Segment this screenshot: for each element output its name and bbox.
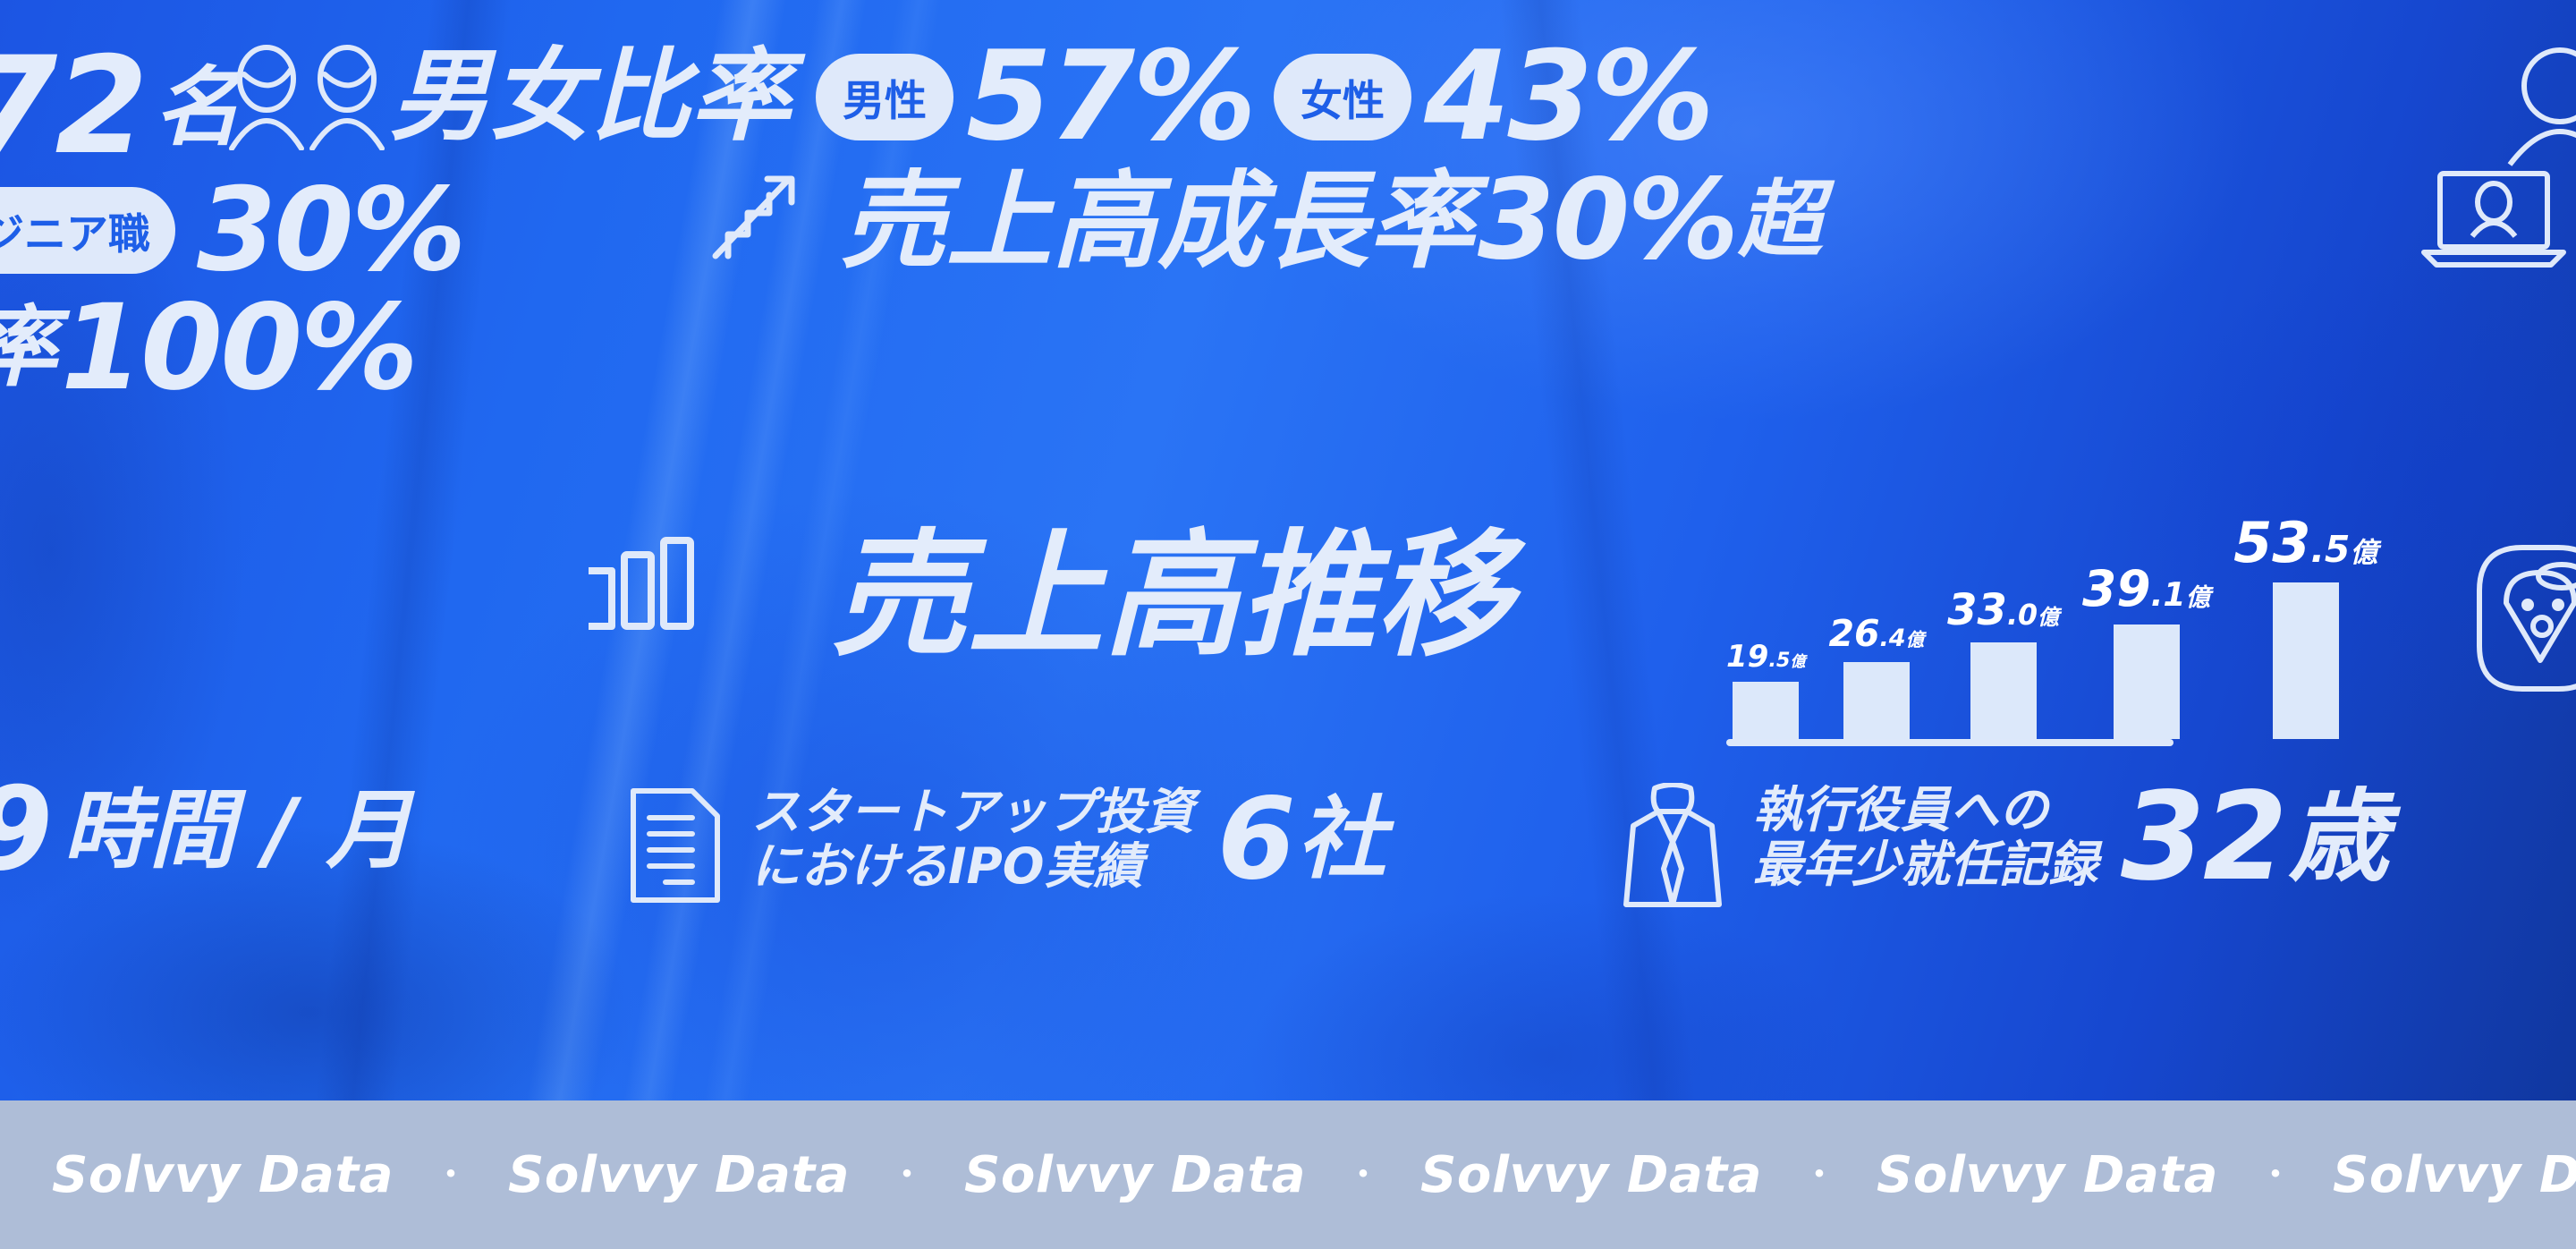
engineer-percent-sign: % xyxy=(352,179,464,282)
ticker-track: ・Solvvy Data・Solvvy Data・Solvvy Data・Sol… xyxy=(0,1146,2576,1204)
engineer-value: 30 xyxy=(197,179,352,282)
stat-headcount: 72 名 xyxy=(0,47,241,167)
sales-growth-title: 売上高成長率 xyxy=(841,168,1474,274)
laptop-person-icon xyxy=(2406,170,2576,268)
male-pill: 男性 xyxy=(816,54,953,140)
male-percent-sign: % xyxy=(1133,41,1255,152)
chart-bar xyxy=(1733,682,1799,739)
chart-bar xyxy=(2273,582,2339,739)
chart-bar-column: 26.4億 xyxy=(1828,612,1924,739)
ipo-line2: におけるIPO実績 xyxy=(751,842,1194,891)
chart-bar xyxy=(1843,662,1910,739)
chart-bar-label: 53.5億 xyxy=(2233,510,2377,575)
chart-bar xyxy=(2114,624,2180,739)
circle-outline-icon xyxy=(2504,41,2576,166)
sales-trend-chart: 19.5億26.4億33.0億39.1億53.5億 xyxy=(1726,510,2377,746)
youngest-exec-text: 執行役員への 最年少就任記録 xyxy=(1753,786,2097,889)
gender-ratio-title: 男女比率 xyxy=(390,47,791,147)
ipo-text: スタートアップ投資 におけるIPO実績 xyxy=(751,787,1194,891)
ipo-line1: スタートアップ投資 xyxy=(751,787,1194,837)
stat-sales-trend-title: 売上高推移 xyxy=(832,528,1512,664)
chart-bar-label: 26.4億 xyxy=(1828,612,1924,655)
youngest-exec-unit: 歳 xyxy=(2289,787,2389,888)
stat-youngest-exec: 執行役員への 最年少就任記録 32 歳 xyxy=(1753,783,2389,892)
face-badge-icon xyxy=(2469,537,2576,702)
ticker-word: Solvvy Data xyxy=(52,1146,394,1204)
youngest-exec-line1: 執行役員への xyxy=(1753,786,2097,835)
rate-100-value: 100 xyxy=(61,295,301,402)
ticker-separator: ・ xyxy=(433,1157,469,1193)
headcount-value: 72 xyxy=(0,47,146,167)
ticker-word: Solvvy Data xyxy=(508,1146,850,1204)
stats-stage: 72 名 男女比率 男性 57 % 女性 43 % ジニア職 30 % xyxy=(0,0,2576,1100)
bar-chart-icon xyxy=(581,537,698,635)
stat-ipo: スタートアップ投資 におけるIPO実績 6 社 xyxy=(751,787,1386,891)
ipo-unit: 社 xyxy=(1297,794,1386,884)
chart-bar-label: 39.1億 xyxy=(2082,560,2210,617)
ipo-value: 6 xyxy=(1217,788,1293,889)
stat-gender-ratio: 男女比率 男性 57 % 女性 43 % xyxy=(390,41,1712,152)
sales-growth-percent-sign: % xyxy=(1628,171,1737,271)
marquee-ticker: ・Solvvy Data・Solvvy Data・Solvvy Data・Sol… xyxy=(0,1100,2576,1249)
document-icon xyxy=(626,787,724,904)
ticker-word: Solvvy Data xyxy=(1877,1146,2218,1204)
stat-sales-growth: 売上高成長率 30 % 超 xyxy=(841,168,1822,274)
rate-100-percent-sign: % xyxy=(301,295,417,402)
rate-100-prefix: 率 xyxy=(0,304,57,392)
youngest-exec-line2: 最年少就任記録 xyxy=(1753,840,2097,889)
overtime-value: 9 xyxy=(0,778,51,881)
sales-trend-title: 売上高推移 xyxy=(832,528,1512,664)
overtime-unit: 時間 / 月 xyxy=(64,787,412,873)
female-pill: 女性 xyxy=(1274,54,1411,140)
chart-bar-column: 33.0億 xyxy=(1947,585,2059,739)
chart-bar-column: 19.5億 xyxy=(1726,639,1805,739)
ticker-word: Solvvy Data xyxy=(964,1146,1306,1204)
chart-bar xyxy=(1970,642,2037,739)
sales-growth-value: 30 xyxy=(1478,171,1628,271)
step-arrow-up-icon xyxy=(707,168,814,267)
male-value: 57 xyxy=(966,41,1133,152)
sales-growth-suffix: 超 xyxy=(1738,179,1822,263)
youngest-exec-value: 32 xyxy=(2121,783,2285,892)
stat-engineer-ratio: ジニア職 30 % xyxy=(0,179,464,282)
ticker-separator: ・ xyxy=(1345,1157,1381,1193)
chart-baseline xyxy=(1726,739,2173,746)
chart-bar-label: 33.0億 xyxy=(1947,585,2059,635)
ticker-separator: ・ xyxy=(2258,1157,2293,1193)
ticker-word: Solvvy Data xyxy=(1420,1146,1762,1204)
chart-bar-label: 19.5億 xyxy=(1726,639,1805,675)
chart-bars: 19.5億26.4億33.0億39.1億53.5億 xyxy=(1726,510,2377,739)
female-percent-sign: % xyxy=(1591,41,1713,152)
chart-bar-column: 53.5億 xyxy=(2233,510,2377,739)
chart-bar-column: 39.1億 xyxy=(2082,560,2210,739)
two-people-icon xyxy=(228,43,389,150)
ticker-separator: ・ xyxy=(889,1157,925,1193)
business-suit-icon xyxy=(1619,783,1726,908)
stat-rate-100: 率 100 % xyxy=(0,295,416,402)
ticker-word: Solvvy Data xyxy=(2333,1146,2576,1204)
stat-overtime: 9 時間 / 月 xyxy=(0,778,411,881)
ticker-separator: ・ xyxy=(1801,1157,1837,1193)
ticker-separator: ・ xyxy=(0,1157,13,1193)
female-value: 43 xyxy=(1424,41,1591,152)
engineer-pill: ジニア職 xyxy=(0,187,175,274)
